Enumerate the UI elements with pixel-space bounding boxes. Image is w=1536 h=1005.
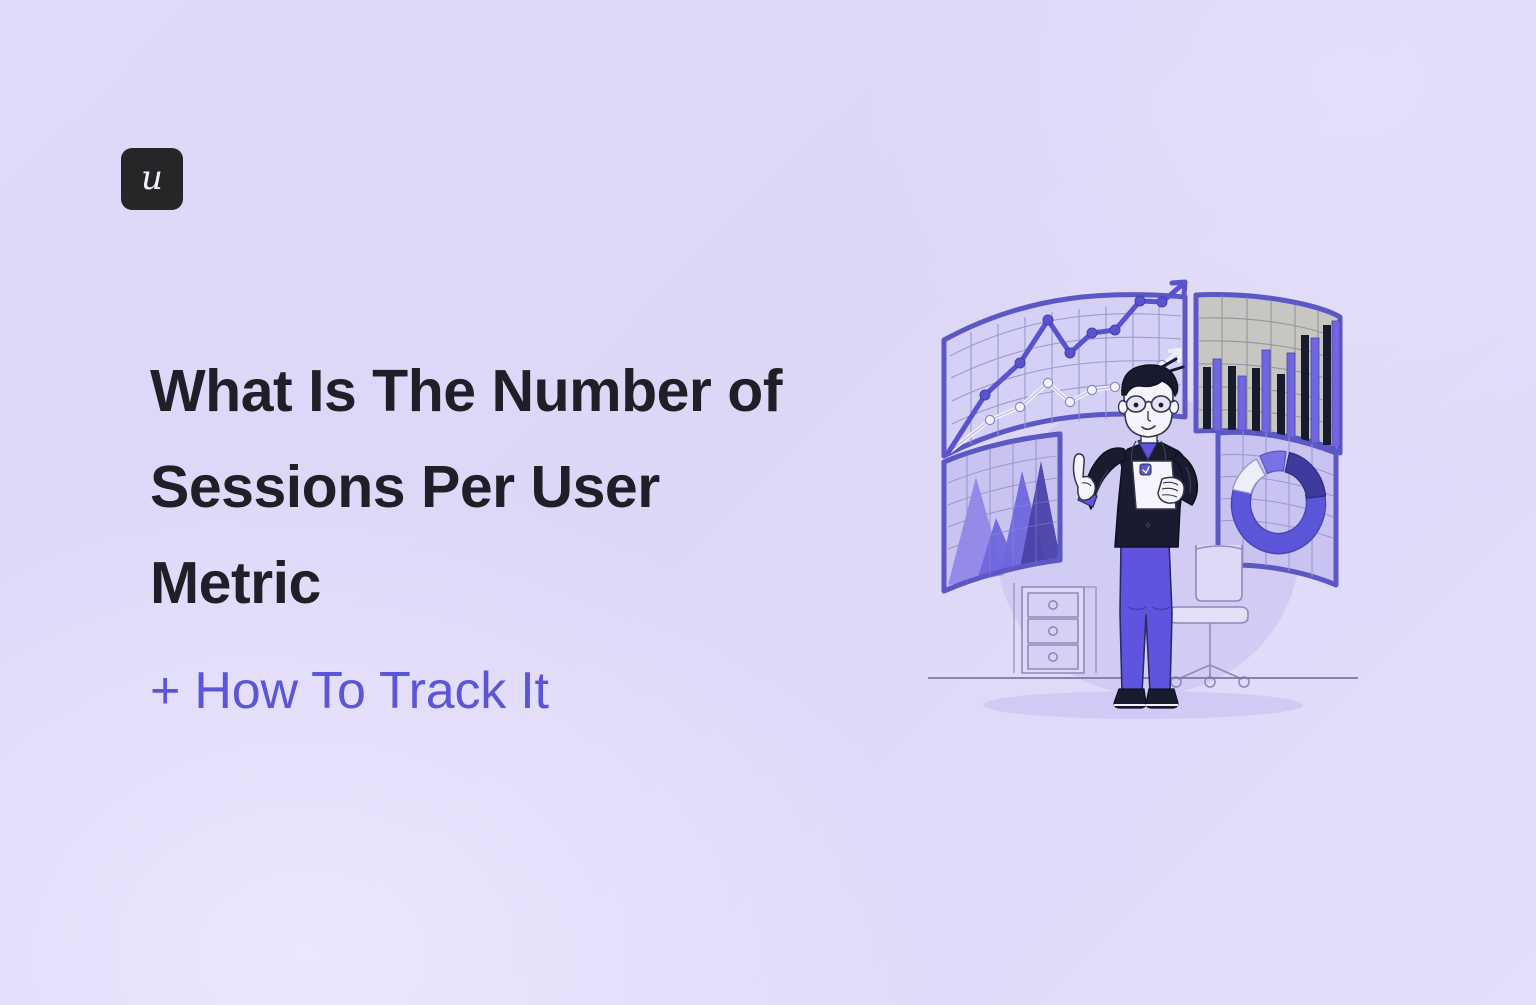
page-subtitle: + How To Track It	[150, 655, 830, 727]
person-hand	[1158, 477, 1184, 503]
userpilot-logo[interactable]: u	[121, 148, 183, 210]
page-title: What Is The Number of Sessions Per User …	[150, 343, 830, 631]
hero-illustration	[900, 255, 1390, 725]
bar-chart-panel	[1196, 295, 1340, 453]
hero-page: u What Is The Number of Sessions Per Use…	[0, 0, 1536, 1005]
logo-glyph: u	[141, 161, 163, 195]
